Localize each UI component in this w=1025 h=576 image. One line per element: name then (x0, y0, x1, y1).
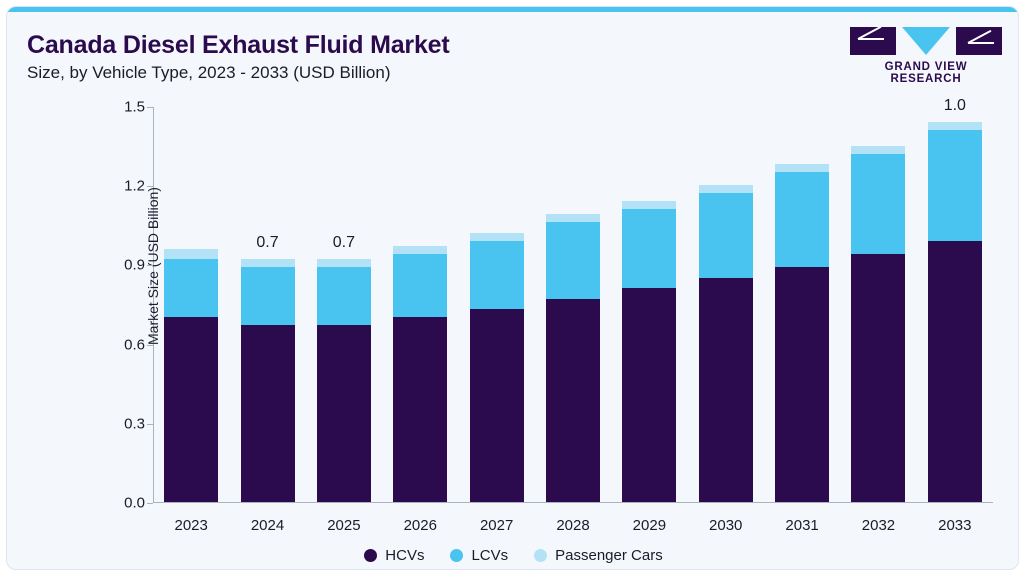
y-axis-tick-label: 0.6 (103, 336, 145, 353)
bar-segment-lcvs[interactable] (470, 241, 524, 310)
y-axis-tick-label: 0.0 (103, 495, 145, 512)
logo-triangle-icon (902, 27, 950, 55)
logo-block-right-icon (956, 27, 1002, 55)
y-axis-tick-mark (147, 424, 153, 425)
legend-label: LCVs (471, 547, 508, 564)
bar-segment-passenger-cars[interactable] (851, 146, 905, 154)
x-axis-tick-label: 2023 (154, 517, 228, 534)
bar-segment-lcvs[interactable] (546, 222, 600, 299)
bar-segment-hcvs[interactable] (546, 299, 600, 502)
bar-segment-passenger-cars[interactable] (775, 164, 829, 172)
bar-segment-lcvs[interactable] (164, 259, 218, 317)
logo-wordmark: GRAND VIEW RESEARCH (850, 61, 1002, 85)
page-title: Canada Diesel Exhaust Fluid Market (27, 31, 450, 60)
bar-segment-lcvs[interactable] (317, 267, 371, 325)
bar-segment-passenger-cars[interactable] (317, 259, 371, 267)
bar-segment-passenger-cars[interactable] (164, 249, 218, 260)
logo-left-line1 (858, 38, 884, 40)
x-axis-tick-label: 2027 (460, 517, 534, 534)
bar-segment-hcvs[interactable] (470, 309, 524, 502)
logo-marks (850, 27, 1002, 57)
logo-block-left-icon (850, 27, 896, 55)
bar-segment-lcvs[interactable] (393, 254, 447, 317)
y-axis-tick-mark (147, 186, 153, 187)
bar-segment-hcvs[interactable] (775, 267, 829, 502)
y-axis-tick-mark (147, 345, 153, 346)
y-axis-tick-label: 0.3 (103, 415, 145, 432)
x-axis-tick-label: 2028 (536, 517, 610, 534)
x-axis-tick-label: 2030 (689, 517, 763, 534)
x-axis-tick-label: 2024 (231, 517, 305, 534)
top-accent-bar (7, 7, 1018, 12)
x-axis-tick-label: 2025 (307, 517, 381, 534)
bar-segment-hcvs[interactable] (241, 325, 295, 502)
bar-segment-hcvs[interactable] (164, 317, 218, 502)
y-axis-tick-mark (147, 503, 153, 504)
bar-segment-passenger-cars[interactable] (928, 122, 982, 130)
brand-logo: GRAND VIEW RESEARCH (850, 27, 1002, 79)
x-axis-tick-label: 2029 (612, 517, 686, 534)
logo-right-line1 (968, 42, 994, 44)
bar-segment-lcvs[interactable] (699, 193, 753, 277)
bar-segment-hcvs[interactable] (317, 325, 371, 502)
bar-segment-hcvs[interactable] (393, 317, 447, 502)
bar-segment-lcvs[interactable] (928, 130, 982, 241)
bar-segment-passenger-cars[interactable] (241, 259, 295, 267)
bar-segment-passenger-cars[interactable] (470, 233, 524, 241)
legend-label: Passenger Cars (555, 547, 663, 564)
legend-label: HCVs (385, 547, 424, 564)
y-axis-tick-mark (147, 107, 153, 108)
bar-segment-hcvs[interactable] (622, 288, 676, 502)
bar-segment-lcvs[interactable] (241, 267, 295, 325)
x-axis-line (153, 502, 993, 503)
x-axis-tick-label: 2033 (918, 517, 992, 534)
bar-segment-lcvs[interactable] (622, 209, 676, 288)
page-subtitle: Size, by Vehicle Type, 2023 - 2033 (USD … (27, 63, 391, 83)
x-axis-tick-label: 2026 (383, 517, 457, 534)
legend-swatch-icon (364, 549, 377, 562)
y-axis-tick-mark (147, 265, 153, 266)
legend-item-passenger-cars[interactable]: Passenger Cars (534, 547, 663, 564)
bar-segment-hcvs[interactable] (851, 254, 905, 502)
chart-plot-area: Market Size (USD Billion) 0.00.30.60.91.… (153, 107, 993, 503)
bar-segment-passenger-cars[interactable] (546, 214, 600, 222)
bar-value-label: 0.7 (304, 234, 384, 252)
legend-item-hcvs[interactable]: HCVs (364, 547, 424, 564)
chart-legend: HCVsLCVsPassenger Cars (7, 547, 1019, 564)
y-axis-tick-label: 0.9 (103, 257, 145, 274)
y-axis-tick-label: 1.2 (103, 178, 145, 195)
bar-value-label: 1.0 (915, 97, 995, 115)
bar-segment-hcvs[interactable] (699, 278, 753, 502)
bar-segment-hcvs[interactable] (928, 241, 982, 502)
x-axis-tick-label: 2031 (765, 517, 839, 534)
legend-item-lcvs[interactable]: LCVs (450, 547, 508, 564)
bar-segment-passenger-cars[interactable] (699, 185, 753, 193)
legend-swatch-icon (534, 549, 547, 562)
bar-segment-lcvs[interactable] (851, 154, 905, 254)
chart-card: Canada Diesel Exhaust Fluid Market Size,… (6, 6, 1019, 570)
legend-swatch-icon (450, 549, 463, 562)
y-axis-tick-label: 1.5 (103, 99, 145, 116)
bar-segment-passenger-cars[interactable] (393, 246, 447, 254)
bar-segment-lcvs[interactable] (775, 172, 829, 267)
bar-segment-passenger-cars[interactable] (622, 201, 676, 209)
bar-value-label: 0.7 (228, 234, 308, 252)
x-axis-tick-label: 2032 (841, 517, 915, 534)
